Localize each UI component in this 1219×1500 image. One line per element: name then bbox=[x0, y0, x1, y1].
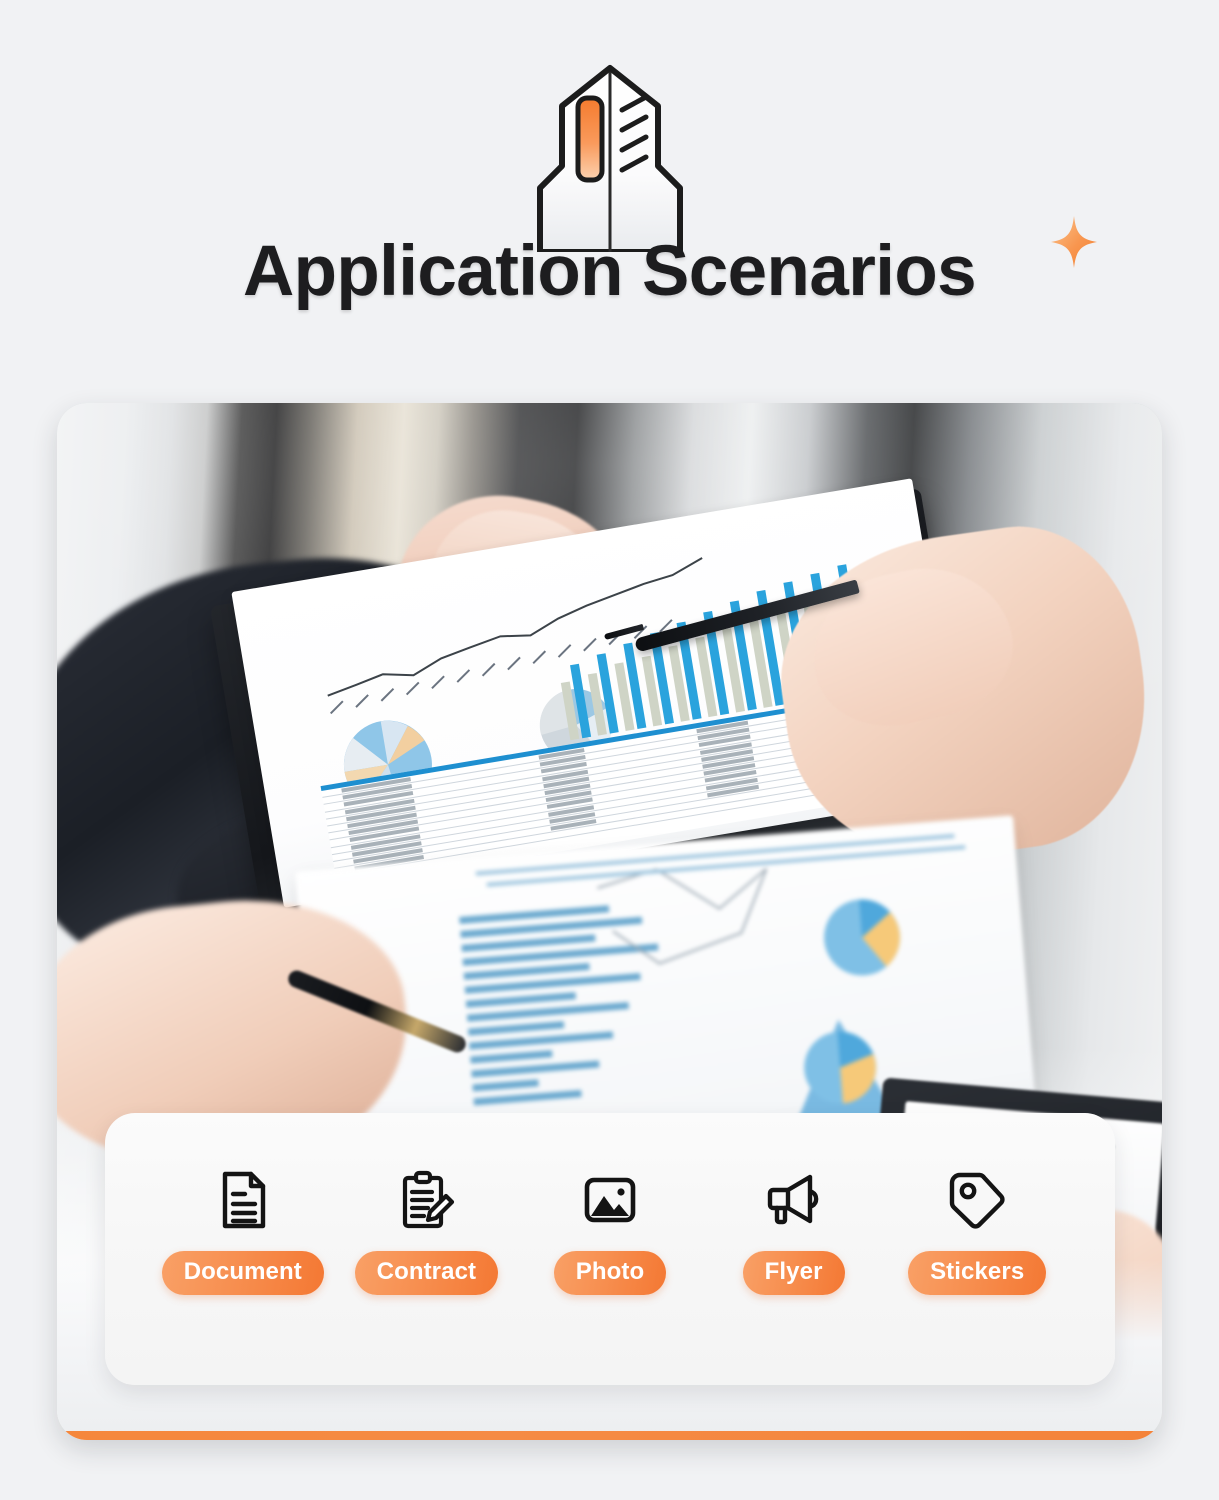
sparkle-icon bbox=[1051, 216, 1097, 268]
feature-label-flyer[interactable]: Flyer bbox=[743, 1251, 845, 1295]
feature-item-flyer[interactable]: Flyer bbox=[706, 1163, 882, 1295]
tag-icon bbox=[940, 1163, 1014, 1237]
feature-item-photo[interactable]: Photo bbox=[522, 1163, 698, 1295]
laminator-document-icon bbox=[502, 62, 718, 252]
page-title: Application Scenarios bbox=[243, 236, 976, 307]
clipboard-pen-icon bbox=[389, 1163, 463, 1237]
feature-panel: Document Contract bbox=[105, 1113, 1115, 1385]
feature-label-contract[interactable]: Contract bbox=[355, 1251, 498, 1295]
feature-item-document[interactable]: Document bbox=[155, 1163, 331, 1295]
title-row: Application Scenarios bbox=[0, 236, 1219, 307]
feature-list: Document Contract bbox=[105, 1163, 1115, 1295]
feature-label-stickers[interactable]: Stickers bbox=[908, 1251, 1046, 1295]
document-icon bbox=[206, 1163, 280, 1237]
megaphone-icon bbox=[757, 1163, 831, 1237]
feature-label-photo[interactable]: Photo bbox=[554, 1251, 666, 1295]
feature-label-document[interactable]: Document bbox=[162, 1251, 324, 1295]
page-header: Application Scenarios bbox=[0, 0, 1219, 390]
application-scenarios-page: Application Scenarios bbox=[0, 0, 1219, 1500]
image-icon bbox=[573, 1163, 647, 1237]
feature-item-contract[interactable]: Contract bbox=[338, 1163, 514, 1295]
feature-item-stickers[interactable]: Stickers bbox=[889, 1163, 1065, 1295]
